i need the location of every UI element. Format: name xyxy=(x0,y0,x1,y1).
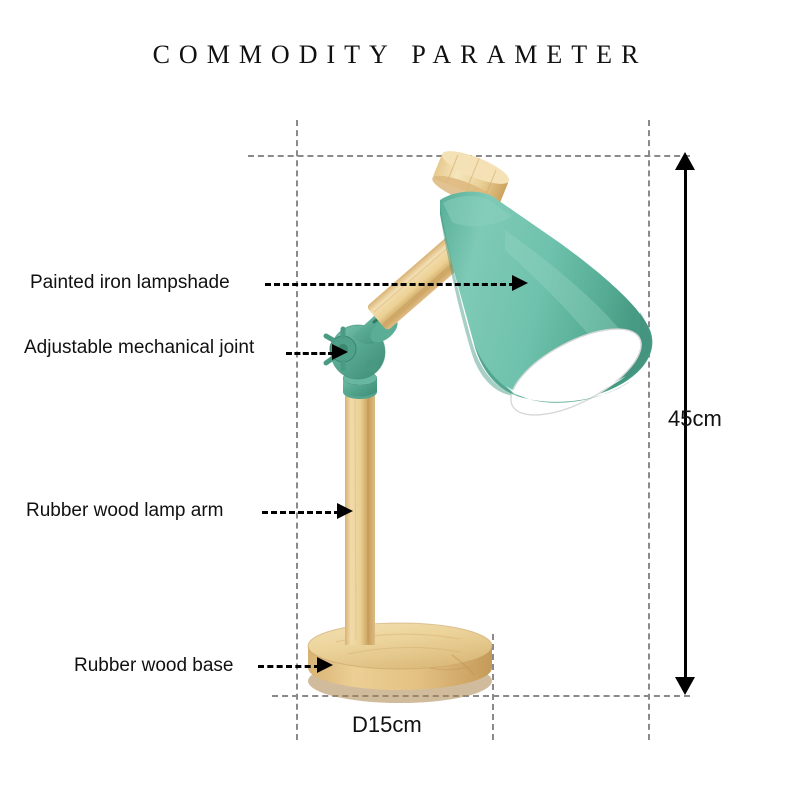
leader-arrow-arm xyxy=(337,503,353,519)
leader-line-base xyxy=(258,665,320,668)
leader-line-arm xyxy=(262,511,340,514)
dimension-arrow-bottom xyxy=(675,677,695,695)
annotation-label-arm: Rubber wood lamp arm xyxy=(26,500,223,522)
annotation-label-joint: Adjustable mechanical joint xyxy=(24,337,254,359)
dimension-label-width: D15cm xyxy=(352,712,422,738)
dimension-label-height: 45cm xyxy=(668,406,722,432)
lamp-shade xyxy=(429,145,654,433)
leader-line-joint xyxy=(286,352,334,355)
leader-arrow-lampshade xyxy=(512,275,528,291)
leader-arrow-base xyxy=(317,657,333,673)
dimension-arrow-top xyxy=(675,152,695,170)
leader-arrow-joint xyxy=(332,344,348,360)
annotation-label-lampshade: Painted iron lampshade xyxy=(30,272,230,294)
annotation-label-base: Rubber wood base xyxy=(74,655,234,677)
commodity-parameter-diagram: COMMODITY PARAMETER xyxy=(0,0,800,800)
lamp-base xyxy=(308,623,492,703)
leader-line-lampshade xyxy=(265,283,515,286)
lamp-arm-vertical xyxy=(345,395,375,645)
